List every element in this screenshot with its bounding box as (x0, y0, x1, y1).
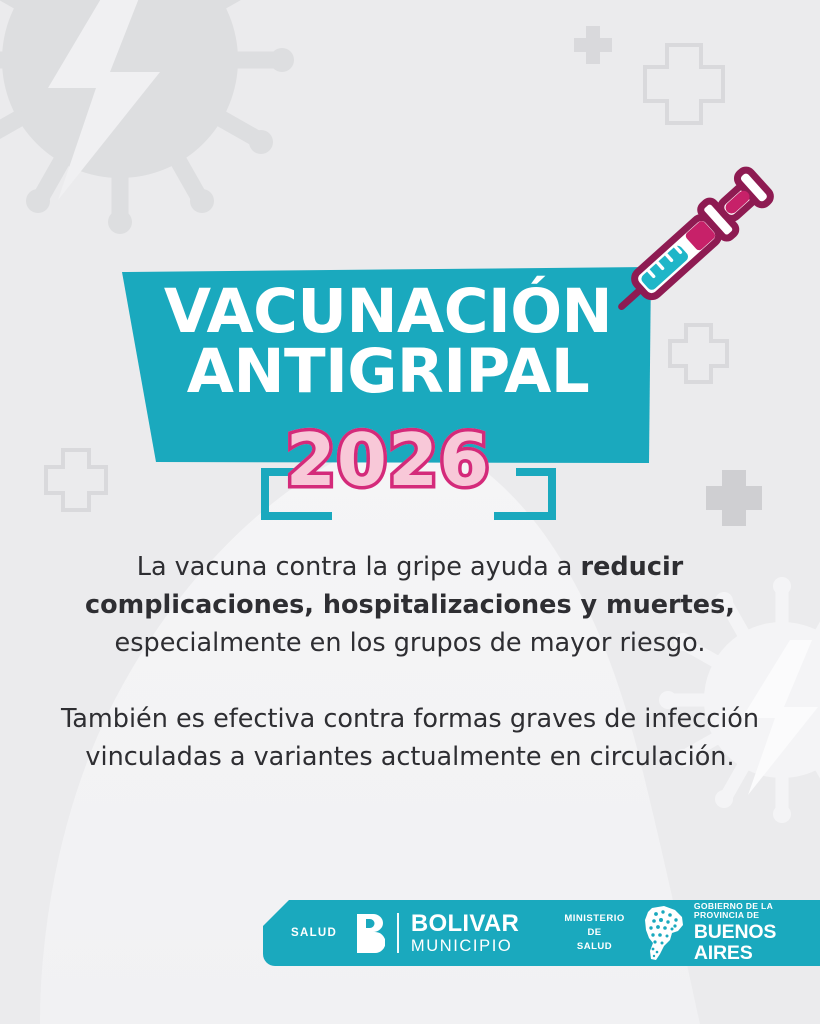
municipality-type: MUNICIPIO (411, 938, 519, 955)
ministry-line-1: MINISTERIO DE (561, 912, 628, 940)
paragraph-1-part-2: especialmente en los grupos de mayor rie… (115, 628, 706, 658)
footer-salud-label: SALUD (291, 927, 337, 939)
poster-canvas: VACUNACIÓN ANTIGRIPAL 2026 La vacuna con… (0, 0, 820, 1024)
footer-divider (397, 913, 399, 953)
footer-bar: SALUD BOLIVAR MUNICIPIO MINISTERIO DE SA… (263, 900, 820, 966)
municipality-name: BOLIVAR (411, 912, 519, 936)
bolivar-wordmark: BOLIVAR MUNICIPIO (411, 912, 519, 955)
government-line-2: BUENOS AIRES (694, 922, 820, 965)
buenos-aires-map-icon (642, 905, 686, 961)
ministry-line-2: SALUD (561, 940, 628, 954)
headline-line-2: ANTIGRIPAL (128, 342, 648, 402)
bolivar-b-icon (355, 913, 385, 953)
background-decorations (0, 0, 820, 1024)
paragraph-gap (60, 662, 760, 700)
ministry-block: MINISTERIO DE SALUD (561, 912, 628, 953)
paragraph-2: También es efectiva contra formas graves… (60, 700, 760, 776)
government-line-1: GOBIERNO DE LA PROVINCIA DE (694, 902, 820, 921)
headline-line-1: VACUNACIÓN (128, 282, 648, 342)
year-label: 2026 (128, 424, 648, 496)
body-copy: La vacuna contra la gripe ayuda a reduci… (60, 548, 760, 776)
headline-text-block: VACUNACIÓN ANTIGRIPAL (128, 282, 648, 402)
paragraph-1-part-1: La vacuna contra la gripe ayuda a (137, 552, 581, 582)
paragraph-1: La vacuna contra la gripe ayuda a reduci… (60, 548, 760, 662)
province-map-svg (642, 905, 686, 961)
government-wordmark: GOBIERNO DE LA PROVINCIA DE BUENOS AIRES (694, 902, 820, 965)
background-svg (0, 0, 820, 1024)
bolivar-b-logo (355, 913, 385, 953)
